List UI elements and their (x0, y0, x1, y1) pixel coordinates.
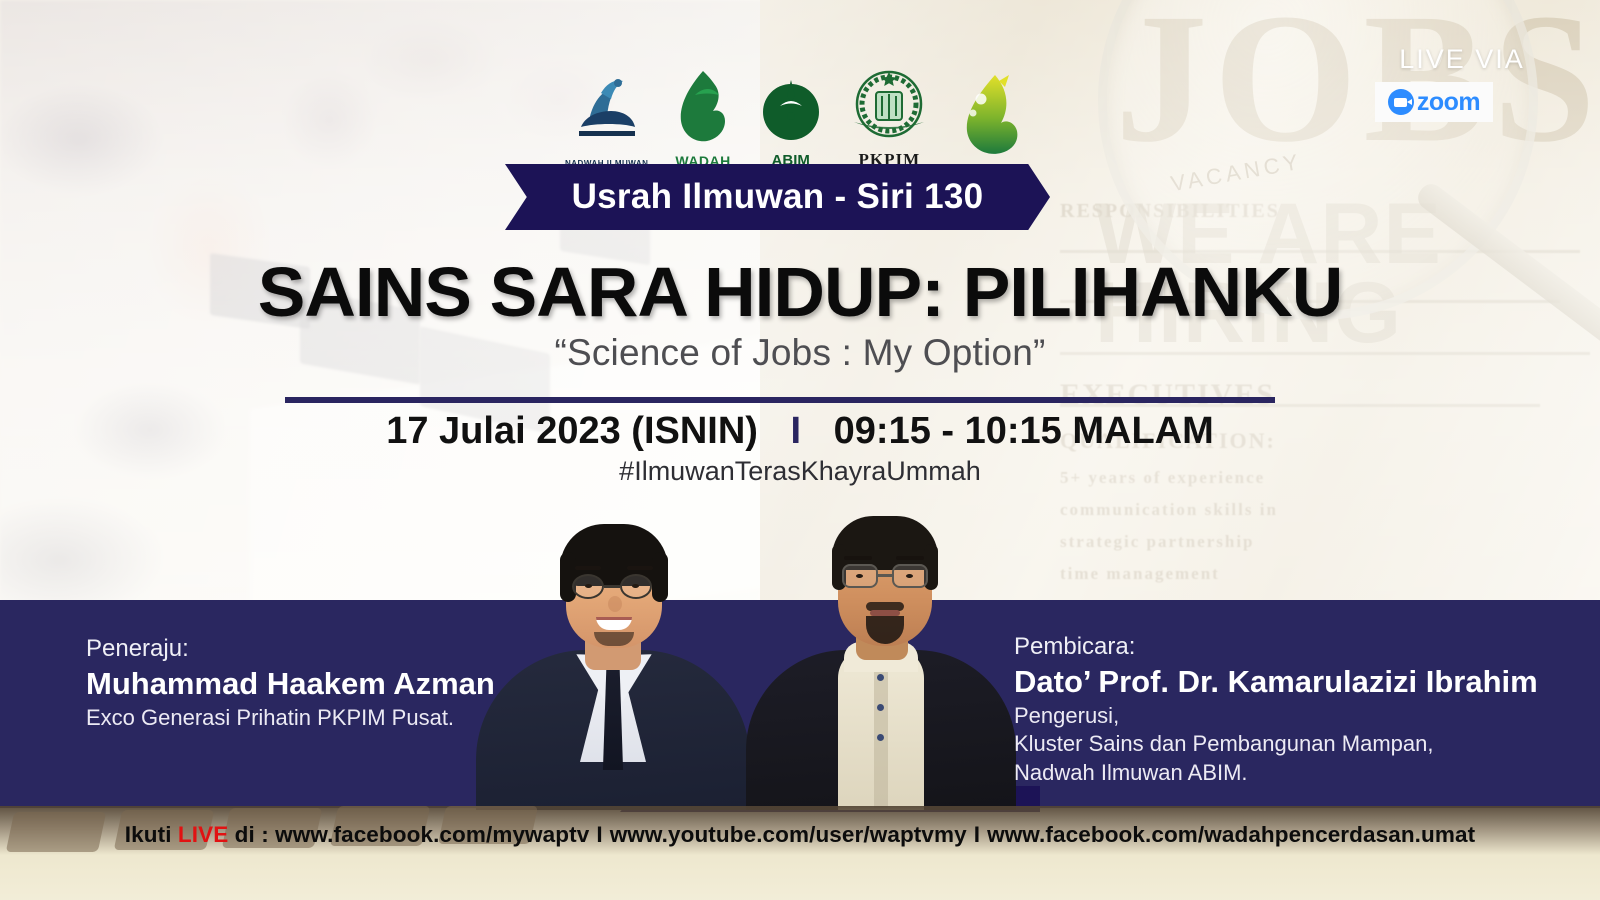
moderator-photo (468, 500, 758, 810)
event-hashtag: #IlmuwanTerasKhayraUmmah (0, 456, 1600, 487)
zoom-wordmark: zoom (1417, 88, 1480, 117)
abim-icon (758, 72, 824, 150)
zoom-badge[interactable]: zoom (1375, 82, 1493, 122)
footer-link-youtube-waptvmy[interactable]: www.youtube.com/user/waptvmy (610, 822, 967, 847)
event-date: 17 Julai 2023 (ISNIN) (386, 410, 758, 452)
event-datetime: 17 Julai 2023 (ISNIN) I 09:15 - 10:15 MA… (0, 410, 1600, 453)
event-poster: EXECUTIVES QUALIFICATION: 5+ years of ex… (0, 0, 1600, 900)
footer-links: Ikuti LIVE di : www.facebook.com/mywaptv… (0, 822, 1600, 848)
speaker-name: Dato’ Prof. Dr. Kamarulazizi Ibrahim (1014, 662, 1538, 702)
datetime-separator: I (791, 410, 802, 452)
footer-link-facebook-mywaptv[interactable]: www.facebook.com/mywaptv (275, 822, 589, 847)
nadwah-ilmuwan-icon (571, 65, 643, 157)
wakaf-icon (955, 69, 1025, 165)
series-ribbon: Usrah Ilmuwan - Siri 130 (505, 164, 1050, 230)
logo-wadah: WADAH (671, 65, 735, 168)
footer-prefix: Ikuti (125, 822, 178, 847)
moderator-name: Muhammad Haakem Azman (86, 664, 495, 704)
speaker-photo (746, 498, 1016, 810)
wadah-icon (671, 65, 735, 151)
logo-wakaf (955, 69, 1025, 168)
live-via-label: LIVE VIA (1372, 44, 1552, 75)
footer-link-separator: I (596, 822, 602, 847)
moderator-role-label: Peneraju: (86, 634, 495, 664)
footer-background (0, 806, 1600, 900)
video-camera-icon (1388, 89, 1414, 115)
speaker-description-line-3: Nadwah Ilmuwan ABIM. (1014, 759, 1538, 788)
moderator-info: Peneraju: Muhammad Haakem Azman Exco Gen… (86, 634, 495, 732)
logo-nadwah-ilmuwan: NADWAH ILMUWAN (565, 65, 648, 168)
logo-pkpim: PKPIM (846, 64, 932, 168)
logo-abim: ABIM (758, 72, 824, 168)
footer-live-word: LIVE (178, 822, 228, 847)
speaker-description-line-2: Kluster Sains dan Pembangunan Mampan, (1014, 730, 1538, 759)
moderator-description: Exco Generasi Prihatin PKPIM Pusat. (86, 704, 495, 733)
speaker-role-label: Pembicara: (1014, 632, 1538, 662)
page-subtitle: “Science of Jobs : My Option” (0, 332, 1600, 374)
pkpim-icon (846, 64, 932, 148)
speaker-description-line-1: Pengerusi, (1014, 702, 1538, 731)
footer-middle: di : (228, 822, 275, 847)
footer-link-separator: I (974, 822, 980, 847)
footer-link-facebook-wadah[interactable]: www.facebook.com/wadahpencerdasan.umat (987, 822, 1475, 847)
divider (285, 397, 1275, 403)
event-time: 09:15 - 10:15 MALAM (834, 410, 1214, 452)
speaker-info: Pembicara: Dato’ Prof. Dr. Kamarulazizi … (1014, 632, 1538, 787)
organisation-logos: NADWAH ILMUWAN WADAH ABIM (565, 28, 1025, 168)
series-ribbon-label: Usrah Ilmuwan - Siri 130 (572, 177, 984, 217)
page-title: SAINS SARA HIDUP: PILIHANKU (0, 252, 1600, 332)
